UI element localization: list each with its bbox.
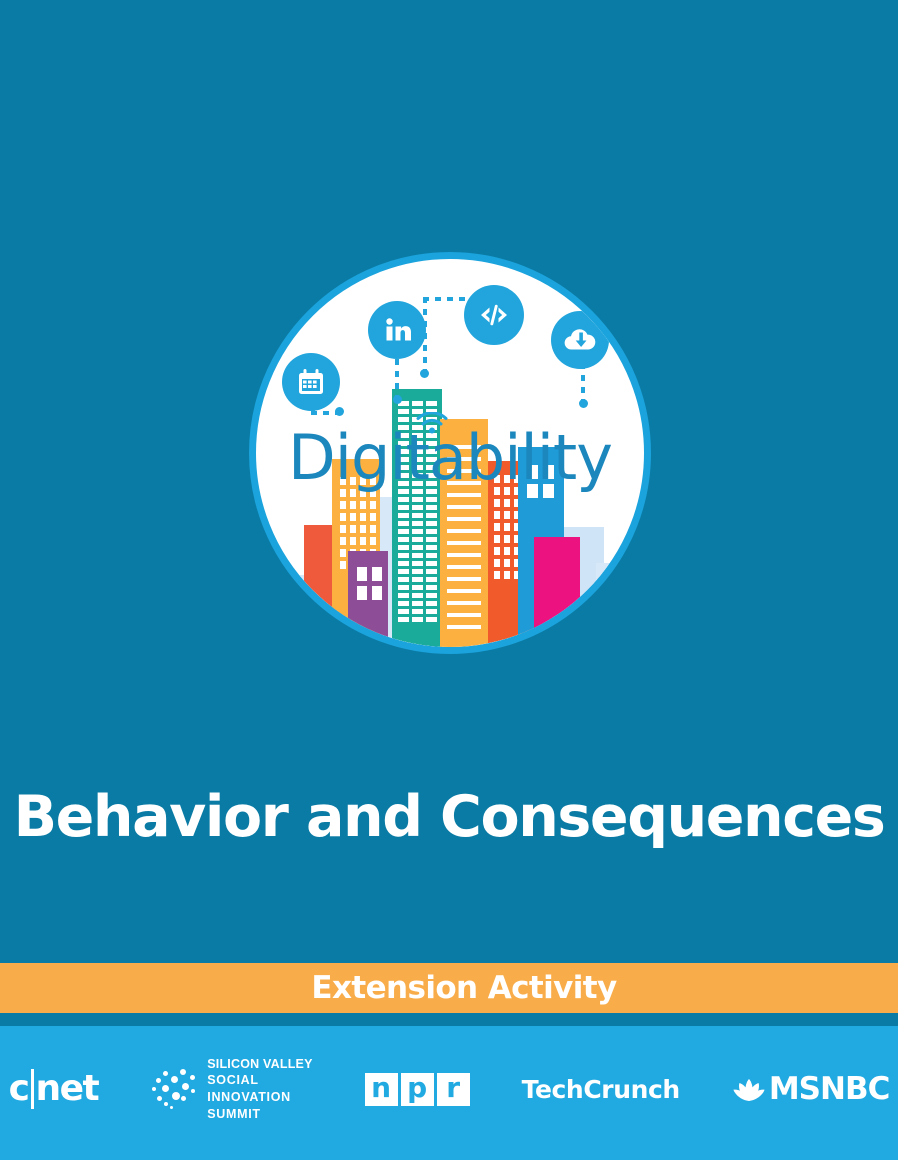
cnet-logo: c net: [9, 1055, 99, 1123]
digitability-wordmark: Digitability: [256, 427, 644, 489]
logo-inner-canvas: Digitability: [256, 259, 644, 647]
digitability-logo-badge: Digitability: [249, 252, 651, 654]
calendar-icon: [282, 353, 340, 411]
skyline-backdrop-block: [596, 563, 644, 647]
cover-page: Digitability Behavior and Consequences E…: [0, 0, 898, 1160]
peacock-icon: [732, 1075, 766, 1103]
techcrunch-logo: TechCrunch: [522, 1055, 680, 1123]
sv-line-2: SOCIAL: [207, 1072, 312, 1089]
code-icon: [464, 285, 524, 345]
connector-dot: [579, 399, 588, 408]
cloud-download-icon: [551, 311, 609, 369]
building-purple: [348, 551, 388, 647]
press-logo-row: c net: [0, 1055, 898, 1123]
sv-line-3: INNOVATION: [207, 1089, 312, 1106]
linkedin-icon: [368, 301, 426, 359]
npr-letter-r: r: [437, 1073, 470, 1106]
connector-dot: [393, 395, 402, 404]
sv-dots-icon: [150, 1065, 198, 1113]
silicon-valley-social-innovation-summit-logo: SILICON VALLEY SOCIAL INNOVATION SUMMIT: [150, 1055, 312, 1123]
extension-activity-banner: Extension Activity: [0, 963, 898, 1013]
banner-label: Extension Activity: [311, 970, 616, 1006]
npr-logo: n p r: [365, 1055, 470, 1123]
connector-dot: [420, 369, 429, 378]
sv-line-4: SUMMIT: [207, 1106, 312, 1123]
window-grid: [357, 567, 382, 600]
npr-letter-p: p: [401, 1073, 434, 1106]
page-title: Behavior and Consequences: [0, 786, 898, 849]
divider: [0, 1013, 898, 1026]
cnet-logo-right: net: [36, 1071, 99, 1107]
cnet-logo-left: c: [9, 1071, 29, 1107]
techcrunch-logo-text: TechCrunch: [522, 1075, 680, 1104]
sv-line-1: SILICON VALLEY: [207, 1056, 312, 1073]
connector-dot: [335, 407, 344, 416]
cnet-logo-bar: [31, 1069, 34, 1109]
msnbc-logo-text: MSNBC: [769, 1071, 890, 1107]
npr-letter-n: n: [365, 1073, 398, 1106]
msnbc-logo: MSNBC: [732, 1055, 890, 1123]
building-magenta: [534, 537, 580, 647]
